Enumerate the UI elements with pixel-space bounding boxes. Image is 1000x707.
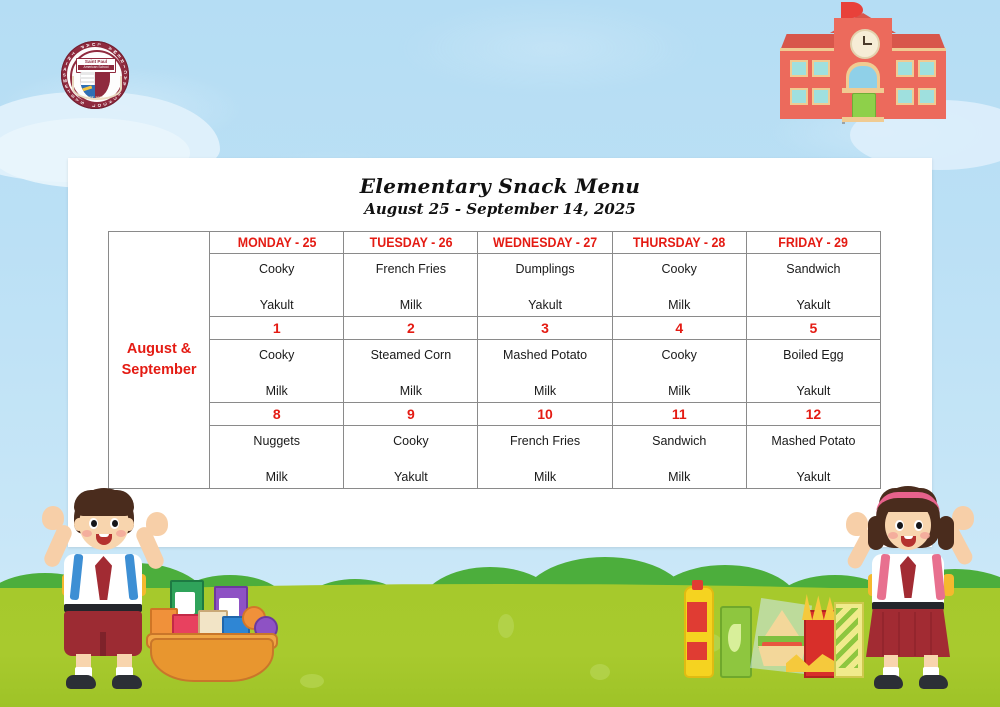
meal-cell: French FriesMilk (478, 426, 612, 489)
day-header-wednesday: WEDNESDAY - 27 (483, 232, 606, 254)
meal-cell: Mashed PotatoMilk (478, 340, 612, 403)
meal-food: Boiled Egg (747, 349, 880, 362)
snack-menu-table: August & September MONDAY - 25 TUESDAY -… (108, 231, 881, 489)
date-cell: 12 (746, 403, 880, 426)
meal-drink: Yakult (210, 299, 343, 312)
meal-drink: Milk (344, 299, 477, 312)
seal-nameplate: Saint Paul American School (76, 58, 116, 73)
meal-food: Nuggets (210, 435, 343, 448)
meal-cell: SandwichYakult (746, 254, 880, 317)
date-cell: 5 (746, 317, 880, 340)
meal-cell: Steamed CornMilk (344, 340, 478, 403)
poster-canvas: SAINT PAUL AMERICAN SCHOOL SYSTEM Saint … (0, 0, 1000, 707)
seal-name-line2: American School (78, 65, 114, 69)
meal-food: French Fries (478, 435, 611, 448)
meal-drink: Yakult (344, 471, 477, 484)
arch-window-icon (846, 62, 880, 88)
meal-cell: CookyMilk (612, 340, 746, 403)
meal-drink: Milk (613, 299, 746, 312)
page-title: Elementary Snack Menu (68, 174, 932, 198)
date-row: 8 9 10 11 12 (109, 403, 881, 426)
meal-cell: French FriesMilk (344, 254, 478, 317)
meal-cell: CookyMilk (210, 340, 344, 403)
meal-cell: Boiled EggYakult (746, 340, 880, 403)
meal-drink: Milk (210, 385, 343, 398)
meal-cell: CookyMilk (612, 254, 746, 317)
meal-drink: Yakult (478, 299, 611, 312)
food-items-illustration (684, 580, 860, 678)
meal-food: Cooky (613, 263, 746, 276)
eye-icon (895, 520, 904, 531)
meal-cell: CookyYakult (210, 254, 344, 317)
meal-food: Dumplings (478, 263, 611, 276)
seal-year: EST. 2003 (58, 96, 132, 100)
meal-cell: Mashed PotatoYakult (746, 426, 880, 489)
meal-cell: NuggetsMilk (210, 426, 344, 489)
day-header-monday: MONDAY - 25 (215, 232, 338, 254)
bottle-icon (684, 586, 714, 678)
meal-cell: SandwichMilk (612, 426, 746, 489)
period-label-line2: September (122, 362, 197, 378)
period-label-cell: August & September (109, 232, 210, 489)
meal-drink: Milk (344, 385, 477, 398)
school-building-icon (778, 4, 948, 122)
meal-food: French Fries (344, 263, 477, 276)
table-row: CookyYakult French FriesMilk DumplingsYa… (109, 254, 881, 317)
meal-food: Cooky (613, 349, 746, 362)
meal-cell: CookyYakult (344, 426, 478, 489)
date-cell: 1 (210, 317, 344, 340)
meal-food: Steamed Corn (344, 349, 477, 362)
meal-drink: Milk (478, 385, 611, 398)
period-label-line1: August & (127, 341, 191, 357)
eye-icon (914, 520, 923, 531)
date-cell: 2 (344, 317, 478, 340)
meal-drink: Milk (613, 471, 746, 484)
girl-student-illustration (846, 482, 976, 690)
menu-card: Elementary Snack Menu August 25 - Septem… (68, 158, 932, 547)
meal-drink: Milk (210, 471, 343, 484)
table-row: NuggetsMilk CookyYakult French FriesMilk… (109, 426, 881, 489)
meal-food: Cooky (210, 349, 343, 362)
eye-icon (110, 518, 119, 529)
clock-icon (850, 29, 880, 59)
date-cell: 11 (612, 403, 746, 426)
date-cell: 3 (478, 317, 612, 340)
meal-drink: Yakult (747, 299, 880, 312)
school-logo-seal: SAINT PAUL AMERICAN SCHOOL SYSTEM Saint … (58, 36, 132, 114)
day-header-tuesday: TUESDAY - 26 (349, 232, 472, 254)
date-cell: 8 (210, 403, 344, 426)
table-header-row: August & September MONDAY - 25 TUESDAY -… (109, 232, 881, 254)
meal-drink: Milk (613, 385, 746, 398)
page-subtitle: August 25 - September 14, 2025 (68, 200, 932, 218)
headband-icon (876, 492, 940, 514)
date-cell: 9 (344, 403, 478, 426)
meal-food: Mashed Potato (747, 435, 880, 448)
seal-name-line1: Saint Paul (77, 60, 115, 65)
date-row: 1 2 3 4 5 (109, 317, 881, 340)
date-cell: 4 (612, 317, 746, 340)
day-header-friday: FRIDAY - 29 (752, 232, 875, 254)
snack-basket-illustration (142, 578, 278, 678)
meal-food: Cooky (210, 263, 343, 276)
day-header-thursday: THURSDAY - 28 (618, 232, 741, 254)
date-cell: 10 (478, 403, 612, 426)
meal-food: Sandwich (747, 263, 880, 276)
meal-drink: Milk (478, 471, 611, 484)
table-row: CookyMilk Steamed CornMilk Mashed Potato… (109, 340, 881, 403)
eye-icon (89, 518, 98, 529)
meal-drink: Yakult (747, 385, 880, 398)
skirt (866, 609, 950, 657)
meal-food: Sandwich (613, 435, 746, 448)
meal-food: Mashed Potato (478, 349, 611, 362)
meal-food: Cooky (344, 435, 477, 448)
meal-cell: DumplingsYakult (478, 254, 612, 317)
